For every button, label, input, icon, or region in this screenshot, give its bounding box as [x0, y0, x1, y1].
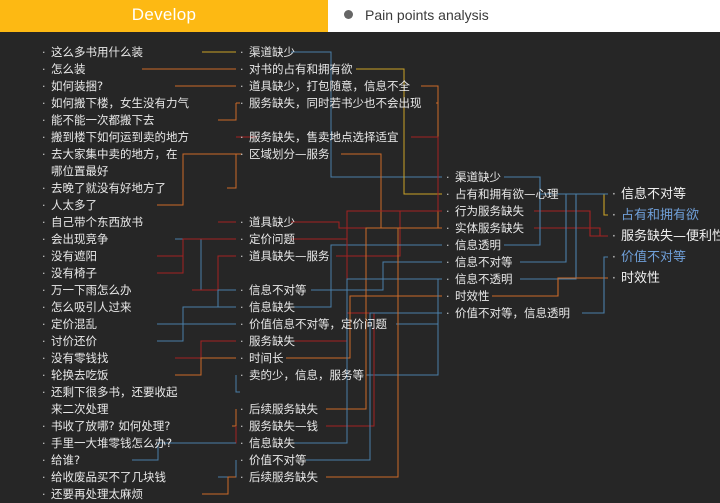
list-item[interactable]: ·服务缺失，同时若书少也不会出现: [240, 95, 422, 112]
list-item-label: 卖的少，信息，服务等: [249, 367, 364, 384]
bullet-icon: ·: [42, 282, 51, 299]
bullet-icon: ·: [240, 61, 249, 78]
list-item-label: 给收废品买不了几块钱: [51, 469, 166, 486]
bullet-icon: ·: [42, 180, 51, 197]
list-item-label: 搬到楼下如何运到卖的地方: [51, 129, 189, 146]
list-item-label: 服务缺失—钱: [249, 418, 318, 435]
list-item[interactable]: ·后续服务缺失: [240, 469, 318, 486]
list-item[interactable]: ·服务缺失—便利性: [612, 228, 720, 245]
list-item[interactable]: ·服务缺失—钱: [240, 418, 318, 435]
list-item[interactable]: 来二次处理: [42, 401, 109, 418]
bullet-icon: ·: [240, 452, 249, 469]
bullet-icon: ·: [42, 333, 51, 350]
bullet-icon: [42, 163, 51, 180]
list-item[interactable]: ·这么多书用什么装: [42, 44, 143, 61]
list-item-label: 后续服务缺失: [249, 401, 318, 418]
list-item-label: 哪位置最好: [51, 163, 109, 180]
list-item-label: 道具缺少，打包随意，信息不全: [249, 78, 410, 95]
list-item-label: 讨价还价: [51, 333, 97, 350]
list-item-label: 服务缺失，同时若书少也不会出现: [249, 95, 422, 112]
bullet-icon: ·: [42, 367, 51, 384]
list-item[interactable]: ·占有和拥有欲: [612, 207, 699, 224]
list-item-label: 会出现竞争: [51, 231, 109, 248]
list-item-label: 信息透明: [455, 237, 501, 254]
list-item-label: 万一下雨怎么办: [51, 282, 132, 299]
dot-icon: [344, 10, 353, 19]
list-item[interactable]: ·没有零钱找: [42, 350, 109, 367]
bullet-icon: ·: [446, 186, 455, 203]
bullet-icon: ·: [446, 237, 455, 254]
bullet-icon: ·: [42, 61, 51, 78]
bullet-icon: ·: [240, 231, 249, 248]
bullet-icon: ·: [42, 384, 51, 401]
list-item-label: 道具缺少: [249, 214, 295, 231]
list-item[interactable]: ·定价混乱: [42, 316, 97, 333]
list-item[interactable]: ·轮换去吃饭: [42, 367, 109, 384]
bullet-icon: [42, 401, 51, 418]
list-item-label: 实体服务缺失: [455, 220, 524, 237]
list-item-label: 手里一大堆零钱怎么办?: [51, 435, 172, 452]
list-item-label: 价值信息不对等，定价问题: [249, 316, 387, 333]
list-item[interactable]: ·书收了放哪? 如何处理?: [42, 418, 170, 435]
list-item-label: 服务缺失，售卖地点选择适宜: [249, 129, 399, 146]
bullet-icon: ·: [446, 254, 455, 271]
list-item[interactable]: ·信息不对等: [612, 186, 686, 203]
list-item[interactable]: ·还要再处理太麻烦: [42, 486, 143, 503]
list-item-label: 信息不对等: [249, 282, 307, 299]
list-item[interactable]: ·没有遮阳: [42, 248, 97, 265]
list-item[interactable]: ·如何装捆?: [42, 78, 103, 95]
list-item-label: 人太多了: [51, 197, 97, 214]
bullet-icon: ·: [240, 418, 249, 435]
list-item-label: 占有和拥有欲—心理: [455, 186, 559, 203]
list-item[interactable]: ·信息不对等: [240, 282, 307, 299]
list-item[interactable]: ·卖的少，信息，服务等: [240, 367, 364, 384]
bullet-icon: ·: [240, 316, 249, 333]
bullet-icon: ·: [240, 367, 249, 384]
bullet-icon: ·: [446, 203, 455, 220]
list-item-label: 还剩下很多书，还要收起: [51, 384, 178, 401]
list-item-label: 这么多书用什么装: [51, 44, 143, 61]
bullet-icon: ·: [42, 316, 51, 333]
list-item[interactable]: ·价值不对等，信息透明: [446, 305, 570, 322]
list-item[interactable]: ·行为服务缺失: [446, 203, 524, 220]
bullet-icon: ·: [240, 44, 249, 61]
list-item[interactable]: ·手里一大堆零钱怎么办?: [42, 435, 172, 452]
list-item[interactable]: ·区域划分—服务: [240, 146, 330, 163]
list-item-label: 价值不对等: [249, 452, 307, 469]
list-item-label: 如何搬下楼，女生没有力气: [51, 95, 189, 112]
brand-block: Develop: [0, 0, 328, 29]
list-item-label: 信息不透明: [455, 271, 513, 288]
list-item-label: 信息缺失: [249, 299, 295, 316]
bullet-icon: ·: [240, 248, 249, 265]
bullet-icon: ·: [42, 44, 51, 61]
bullet-icon: ·: [240, 214, 249, 231]
list-item[interactable]: ·服务缺失，售卖地点选择适宜: [240, 129, 399, 146]
list-item[interactable]: ·渠道缺少: [240, 44, 295, 61]
list-item-label: 定价混乱: [51, 316, 97, 333]
list-item-label: 没有椅子: [51, 265, 97, 282]
list-item-label: 渠道缺少: [455, 169, 501, 186]
bullet-icon: ·: [42, 452, 51, 469]
list-item[interactable]: ·价值不对等: [240, 452, 307, 469]
bullet-icon: ·: [42, 486, 51, 503]
list-item[interactable]: ·讨价还价: [42, 333, 97, 350]
bullet-icon: ·: [42, 95, 51, 112]
list-item-label: 信息不对等: [621, 186, 686, 203]
list-item[interactable]: ·搬到楼下如何运到卖的地方: [42, 129, 189, 146]
list-item[interactable]: ·信息缺失: [240, 435, 295, 452]
bullet-icon: ·: [42, 112, 51, 129]
list-item[interactable]: 哪位置最好: [42, 163, 109, 180]
list-item[interactable]: ·道具缺少，打包随意，信息不全: [240, 78, 410, 95]
bullet-icon: ·: [446, 169, 455, 186]
bullet-icon: ·: [446, 305, 455, 322]
list-item-label: 渠道缺少: [249, 44, 295, 61]
list-item[interactable]: ·占有和拥有欲—心理: [446, 186, 559, 203]
list-item-label: 没有零钱找: [51, 350, 109, 367]
list-item[interactable]: ·万一下雨怎么办: [42, 282, 132, 299]
list-item-label: 去大家集中卖的地方，在: [51, 146, 178, 163]
list-item-label: 时间长: [249, 350, 284, 367]
list-item-label: 行为服务缺失: [455, 203, 524, 220]
list-item[interactable]: ·服务缺失: [240, 333, 295, 350]
bullet-icon: ·: [612, 186, 621, 203]
list-item-label: 区域划分—服务: [249, 146, 330, 163]
list-item-label: 道具缺失—服务: [249, 248, 330, 265]
list-item-label: 时效性: [455, 288, 490, 305]
list-item[interactable]: ·道具缺少: [240, 214, 295, 231]
list-item[interactable]: ·怎么装: [42, 61, 86, 78]
list-item[interactable]: ·如何搬下楼，女生没有力气: [42, 95, 189, 112]
list-item[interactable]: ·对书的占有和拥有欲: [240, 61, 353, 78]
list-item[interactable]: ·能不能一次都搬下去: [42, 112, 155, 129]
bullet-icon: ·: [240, 401, 249, 418]
list-item-label: 如何装捆?: [51, 78, 103, 95]
list-item-label: 信息缺失: [249, 435, 295, 452]
list-item-label: 怎么吸引人过来: [51, 299, 132, 316]
list-item[interactable]: ·信息不对等: [446, 254, 513, 271]
list-item[interactable]: ·给谁?: [42, 452, 80, 469]
list-item[interactable]: ·去晚了就没有好地方了: [42, 180, 166, 197]
list-item-label: 轮换去吃饭: [51, 367, 109, 384]
bullet-icon: ·: [42, 146, 51, 163]
bullet-icon: ·: [240, 78, 249, 95]
list-item-label: 价值不对等，信息透明: [455, 305, 570, 322]
list-item-label: 对书的占有和拥有欲: [249, 61, 353, 78]
bullet-icon: ·: [42, 299, 51, 316]
list-item-label: 服务缺失—便利性: [621, 228, 720, 245]
list-item[interactable]: ·价值信息不对等，定价问题: [240, 316, 387, 333]
bullet-icon: ·: [240, 435, 249, 452]
list-item-label: 怎么装: [51, 61, 86, 78]
bullet-icon: ·: [612, 228, 621, 245]
list-item[interactable]: ·自己带个东西放书: [42, 214, 143, 231]
list-item[interactable]: ·时间长: [240, 350, 284, 367]
list-item[interactable]: ·实体服务缺失: [446, 220, 524, 237]
list-item-label: 定价问题: [249, 231, 295, 248]
bullet-icon: ·: [240, 146, 249, 163]
bullet-icon: ·: [446, 288, 455, 305]
bullet-icon: ·: [240, 333, 249, 350]
brand-label: Develop: [132, 5, 196, 25]
bullet-icon: ·: [446, 220, 455, 237]
bullet-icon: ·: [42, 129, 51, 146]
bullet-icon: ·: [240, 469, 249, 486]
list-item-label: 占有和拥有欲: [621, 207, 699, 224]
list-item-label: 来二次处理: [51, 401, 109, 418]
list-item[interactable]: ·渠道缺少: [446, 169, 501, 186]
bullet-icon: ·: [612, 207, 621, 224]
bullet-icon: ·: [42, 248, 51, 265]
app-header: Develop Pain points analysis: [0, 0, 720, 29]
list-item-label: 没有遮阳: [51, 248, 97, 265]
list-item-label: 后续服务缺失: [249, 469, 318, 486]
list-item-label: 还要再处理太麻烦: [51, 486, 143, 503]
list-item[interactable]: ·时效性: [446, 288, 490, 305]
list-item[interactable]: ·给收废品买不了几块钱: [42, 469, 166, 486]
bullet-icon: ·: [42, 214, 51, 231]
header-title-group: Pain points analysis: [328, 0, 720, 29]
bullet-icon: ·: [240, 299, 249, 316]
bullet-icon: ·: [240, 350, 249, 367]
bullet-icon: ·: [42, 231, 51, 248]
list-item[interactable]: ·去大家集中卖的地方，在: [42, 146, 178, 163]
list-item-label: 自己带个东西放书: [51, 214, 143, 231]
page-title: Pain points analysis: [365, 7, 489, 23]
list-item[interactable]: ·定价问题: [240, 231, 295, 248]
bullet-icon: ·: [42, 469, 51, 486]
list-item-label: 服务缺失: [249, 333, 295, 350]
bullet-icon: ·: [42, 265, 51, 282]
list-item-label: 给谁?: [51, 452, 80, 469]
list-item-label: 价值不对等: [621, 249, 686, 266]
list-item-label: 书收了放哪? 如何处理?: [51, 418, 170, 435]
list-item[interactable]: ·后续服务缺失: [240, 401, 318, 418]
bullet-icon: ·: [42, 350, 51, 367]
list-item-label: 去晚了就没有好地方了: [51, 180, 166, 197]
list-item[interactable]: ·信息不透明: [446, 271, 513, 288]
bullet-icon: ·: [42, 435, 51, 452]
bullet-icon: ·: [42, 78, 51, 95]
affinity-diagram-canvas: ·这么多书用什么装·怎么装·如何装捆?·如何搬下楼，女生没有力气·能不能一次都搬…: [0, 32, 720, 498]
bullet-icon: ·: [240, 282, 249, 299]
bullet-icon: ·: [612, 249, 621, 266]
list-item-label: 时效性: [621, 270, 660, 287]
list-item[interactable]: ·道具缺失—服务: [240, 248, 330, 265]
list-item[interactable]: ·没有椅子: [42, 265, 97, 282]
bullet-icon: ·: [240, 95, 249, 112]
list-item[interactable]: ·价值不对等: [612, 249, 686, 266]
list-item[interactable]: ·人太多了: [42, 197, 97, 214]
bullet-icon: ·: [240, 129, 249, 146]
list-item[interactable]: ·时效性: [612, 270, 660, 287]
bullet-icon: ·: [42, 197, 51, 214]
bullet-icon: ·: [42, 418, 51, 435]
list-item[interactable]: ·怎么吸引人过来: [42, 299, 132, 316]
list-item[interactable]: ·还剩下很多书，还要收起: [42, 384, 178, 401]
list-item-label: 信息不对等: [455, 254, 513, 271]
list-item-label: 能不能一次都搬下去: [51, 112, 155, 129]
bullet-icon: ·: [446, 271, 455, 288]
list-item[interactable]: ·信息缺失: [240, 299, 295, 316]
bullet-icon: ·: [612, 270, 621, 287]
list-item[interactable]: ·信息透明: [446, 237, 501, 254]
list-item[interactable]: ·会出现竞争: [42, 231, 109, 248]
